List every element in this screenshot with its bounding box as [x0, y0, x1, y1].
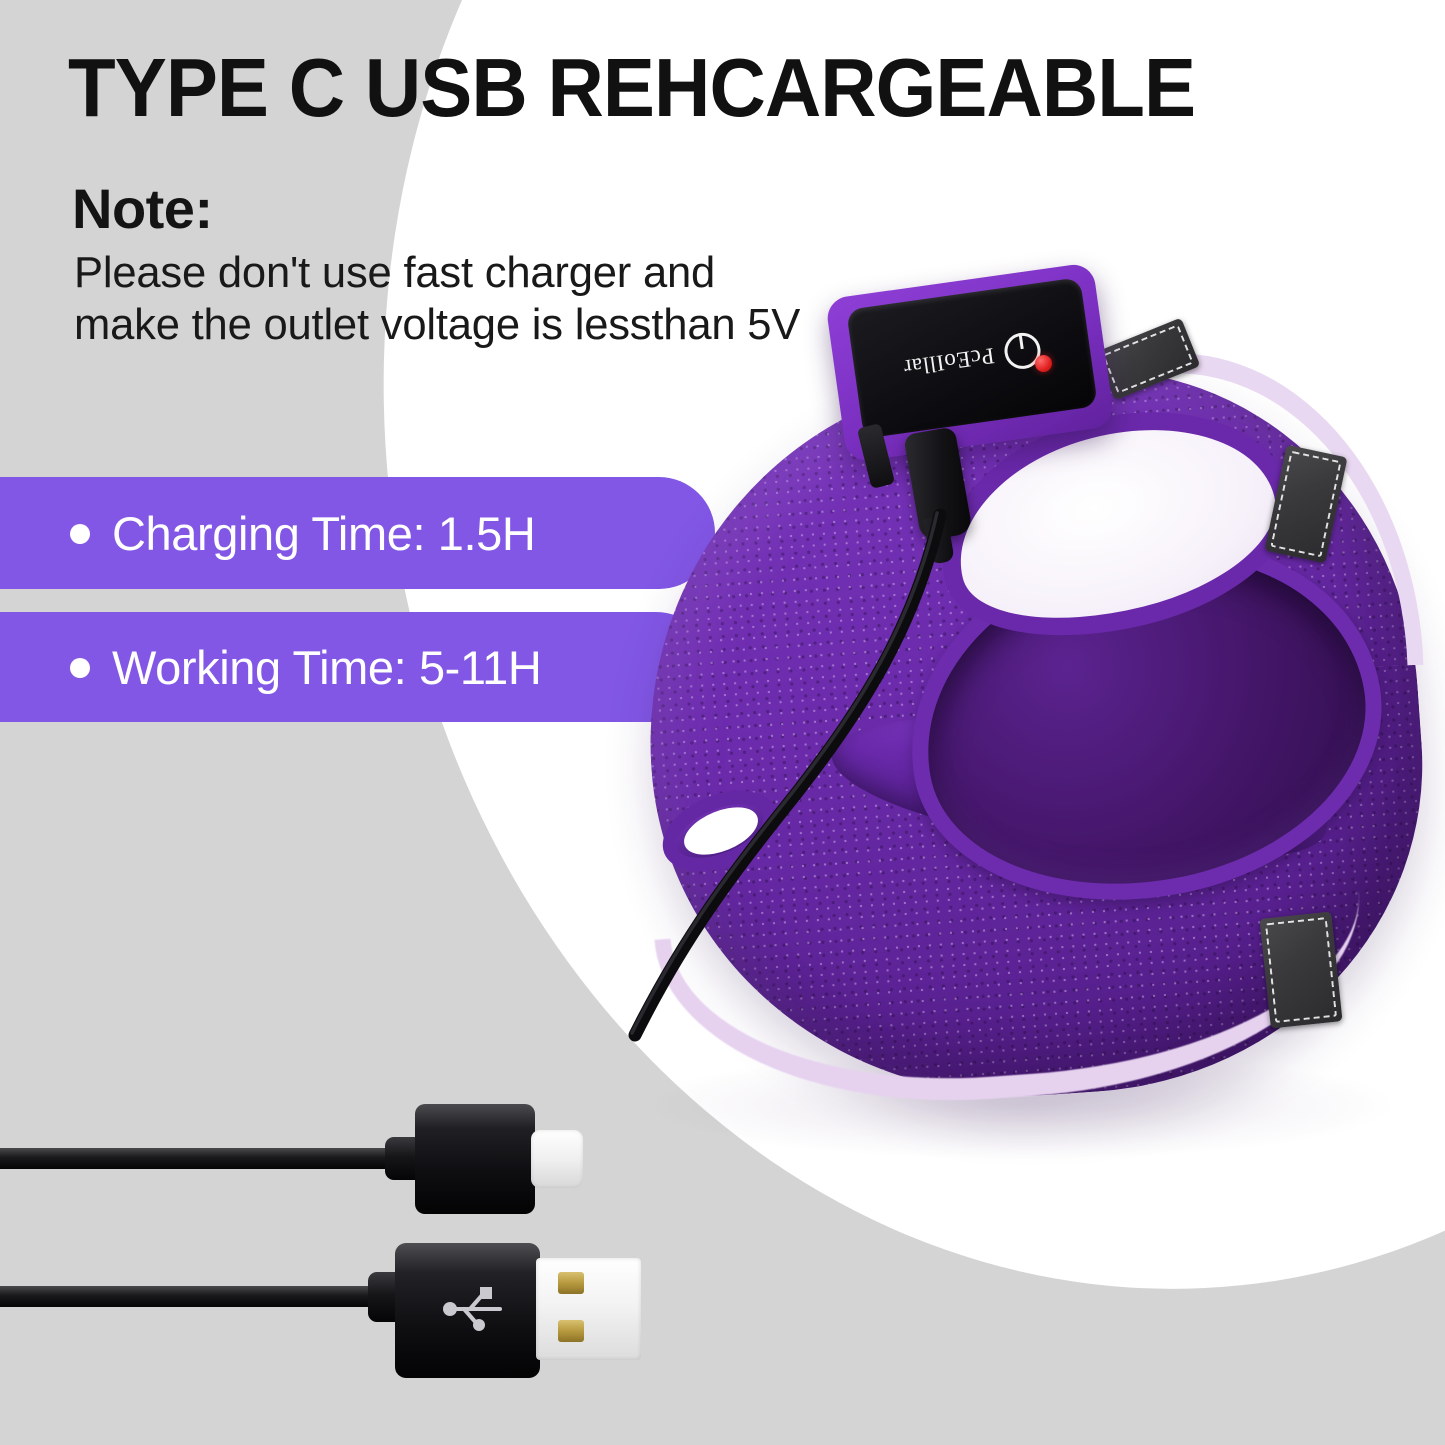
- usb-a-contact-pad: [558, 1320, 584, 1342]
- usb-c-cable: [0, 1148, 410, 1169]
- usb-a-connector-plug: [536, 1258, 641, 1360]
- spec-pill-label: Working Time: 5-11H: [112, 640, 541, 695]
- bullet-icon: [70, 658, 90, 678]
- product-photo-harness: PcEoIllar: [620, 255, 1445, 1135]
- product-infographic: TYPE C USB REHCARGEABLE Note: Please don…: [0, 0, 1445, 1445]
- bullet-icon: [70, 524, 90, 544]
- reflective-strip-icon: [1259, 912, 1342, 1029]
- note-label: Note:: [72, 176, 213, 241]
- page-title: TYPE C USB REHCARGEABLE: [68, 46, 1318, 129]
- usb-a-contact-pad: [558, 1272, 584, 1294]
- usb-c-connector-tip-icon: [531, 1130, 583, 1188]
- spec-pill-working-time: Working Time: 5-11H: [0, 612, 711, 722]
- usb-c-connector-housing: [415, 1104, 535, 1214]
- brand-logo-text: PcEoIllar: [902, 342, 996, 380]
- spec-pill-charging-time: Charging Time: 1.5H: [0, 477, 715, 589]
- usb-trident-icon: [440, 1280, 510, 1338]
- spec-pill-label: Charging Time: 1.5H: [112, 506, 535, 561]
- usb-a-cable: [0, 1286, 395, 1307]
